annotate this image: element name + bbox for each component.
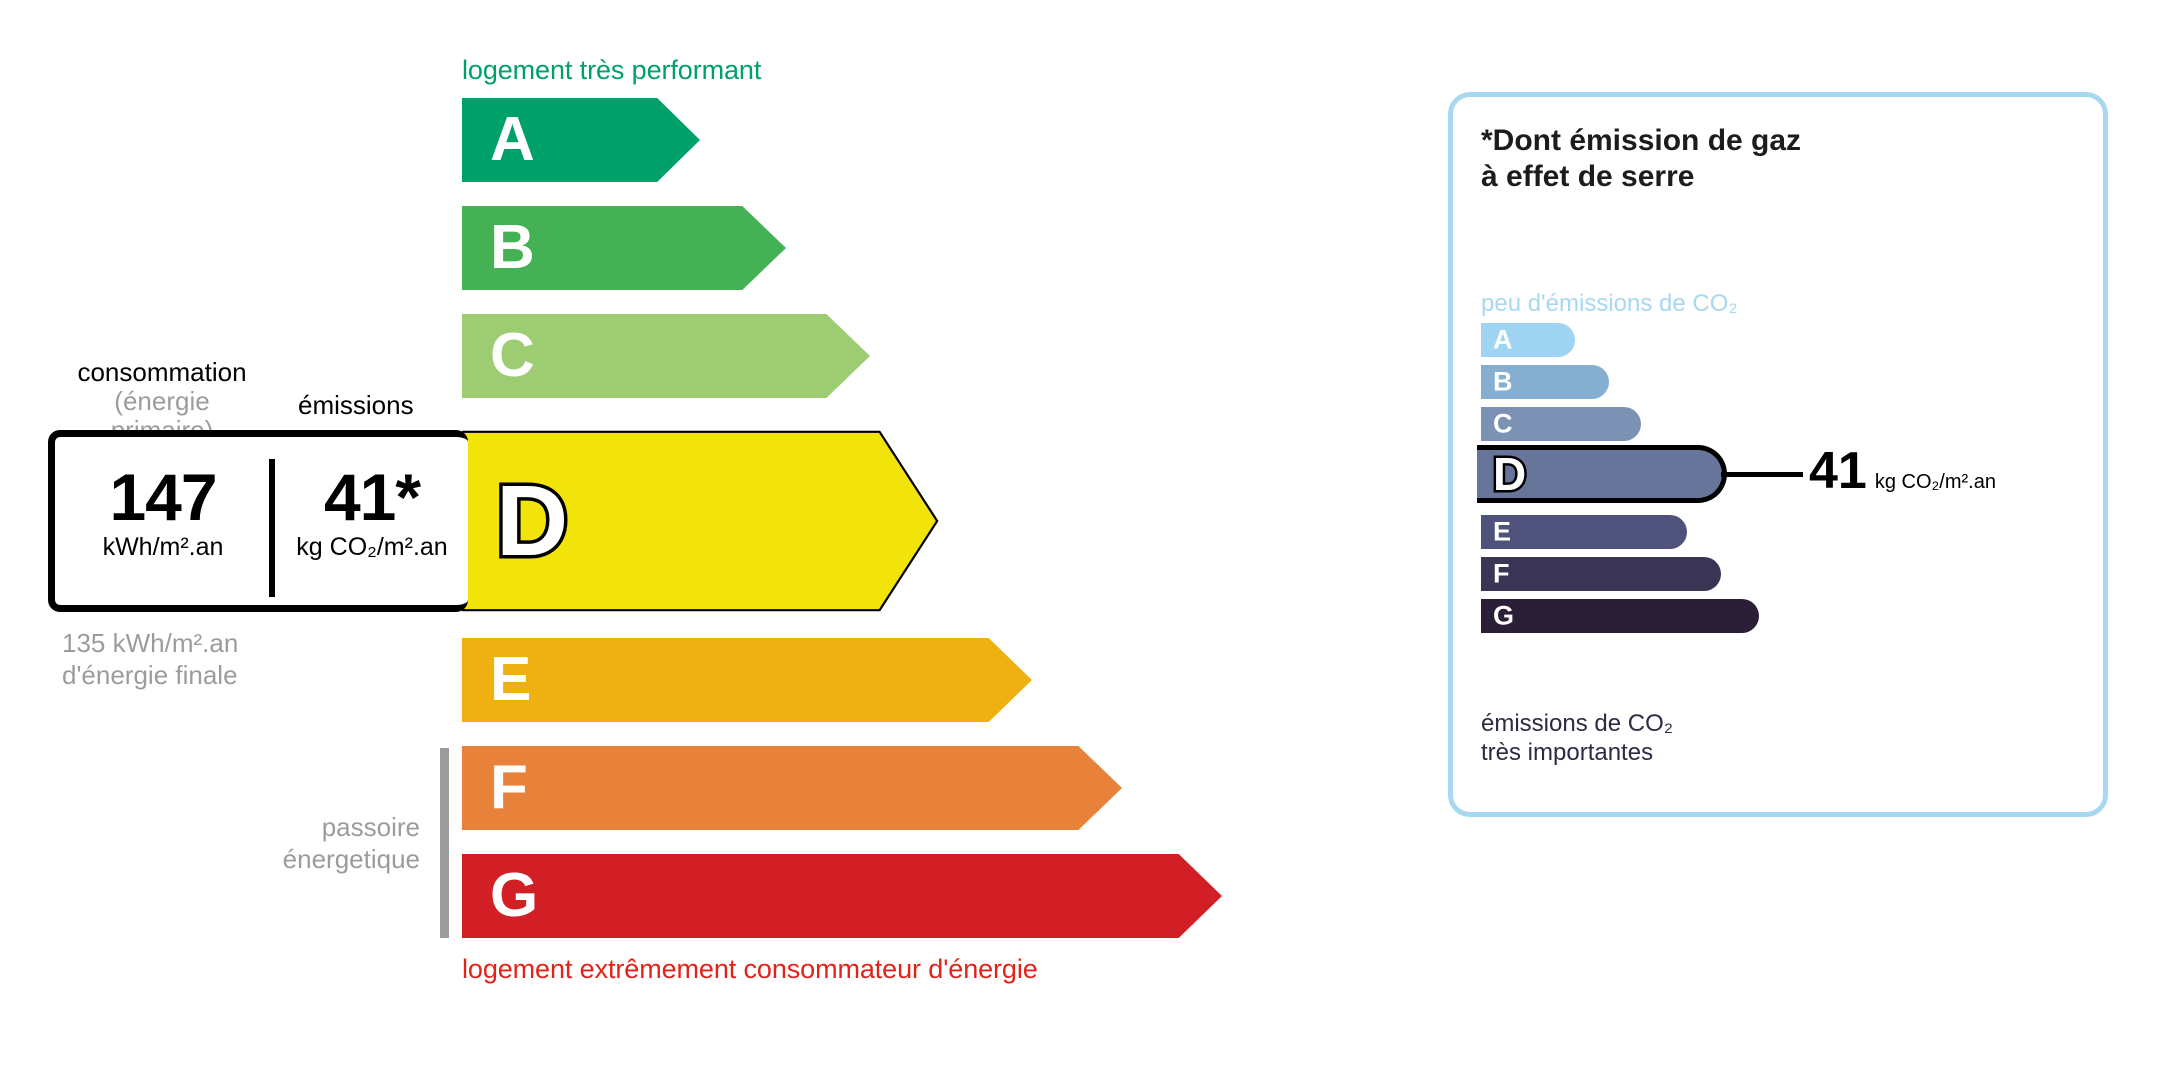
co2-callout-value-number: 41 <box>1809 445 1867 497</box>
co2-letter-A: A <box>1493 327 1513 354</box>
energy-bottom-caption: logement extrêmement consommateur d'éner… <box>462 954 1038 985</box>
arrow-shape-F <box>462 746 1122 830</box>
consumption-value: 147 <box>61 463 265 532</box>
final-energy-note: 135 kWh/m².an d'énergie finale <box>62 628 238 691</box>
emission-value-cell: 41* kg CO₂/m².an <box>277 463 467 562</box>
consumption-unit: kWh/m².an <box>61 534 265 562</box>
consumption-label-main: consommation <box>77 357 246 387</box>
co2-callout-value-unit: kg CO₂/m².an <box>1875 471 1996 494</box>
energy-letter-D: D <box>496 471 568 571</box>
co2-letter-C: C <box>1493 411 1513 438</box>
energy-bar-A: A <box>462 98 700 182</box>
co2-letter-F: F <box>1493 561 1510 588</box>
co2-bar-shape-G <box>1481 599 1759 633</box>
energy-letter-F: F <box>490 757 528 819</box>
energy-letter-G: G <box>490 865 538 927</box>
co2-panel-title: *Dont émission de gaz à effet de serre <box>1481 123 1801 195</box>
energy-bar-C: C <box>462 314 870 398</box>
co2-letter-D: D <box>1493 451 1526 497</box>
emissions-label: émissions <box>298 390 414 421</box>
energy-letter-C: C <box>490 325 535 387</box>
energy-bar-E: E <box>462 638 1032 722</box>
value-box-divider <box>269 459 275 597</box>
emission-value: 41* <box>277 463 467 532</box>
energy-top-caption: logement très performant <box>462 55 761 86</box>
arrow-shape-G <box>462 854 1222 938</box>
co2-letter-G: G <box>1493 603 1514 630</box>
energy-bar-B: B <box>462 206 786 290</box>
energy-bar-D-current: D <box>462 430 942 612</box>
co2-bar-shape-E <box>1481 515 1687 549</box>
co2-bottom-caption: émissions de CO₂ très importantes <box>1481 709 1673 768</box>
co2-letter-B: B <box>1493 369 1513 396</box>
co2-letter-E: E <box>1493 519 1511 546</box>
energy-letter-A: A <box>490 109 535 171</box>
arrow-shape-E <box>462 638 1032 722</box>
emission-unit: kg CO₂/m².an <box>277 534 467 562</box>
co2-callout: 41 kg CO₂/m².an <box>1809 445 1996 497</box>
energy-performance-chart: logement très performant A B C <box>0 0 1400 1079</box>
co2-callout-connector <box>1721 472 1803 477</box>
co2-emissions-panel: *Dont émission de gaz à effet de serre p… <box>1448 92 2108 817</box>
energy-bar-F: F <box>462 746 1122 830</box>
energy-bar-G: G <box>462 854 1222 938</box>
passoire-label: passoire énergetique <box>180 812 420 875</box>
energy-letter-B: B <box>490 217 535 279</box>
co2-top-caption: peu d'émissions de CO₂ <box>1481 290 1738 318</box>
passoire-marker-bar <box>440 748 449 938</box>
co2-bar-shape-F <box>1481 557 1721 591</box>
consumption-value-cell: 147 kWh/m².an <box>61 463 265 562</box>
energy-letter-E: E <box>490 649 531 711</box>
value-box: 147 kWh/m².an 41* kg CO₂/m².an <box>48 430 468 612</box>
